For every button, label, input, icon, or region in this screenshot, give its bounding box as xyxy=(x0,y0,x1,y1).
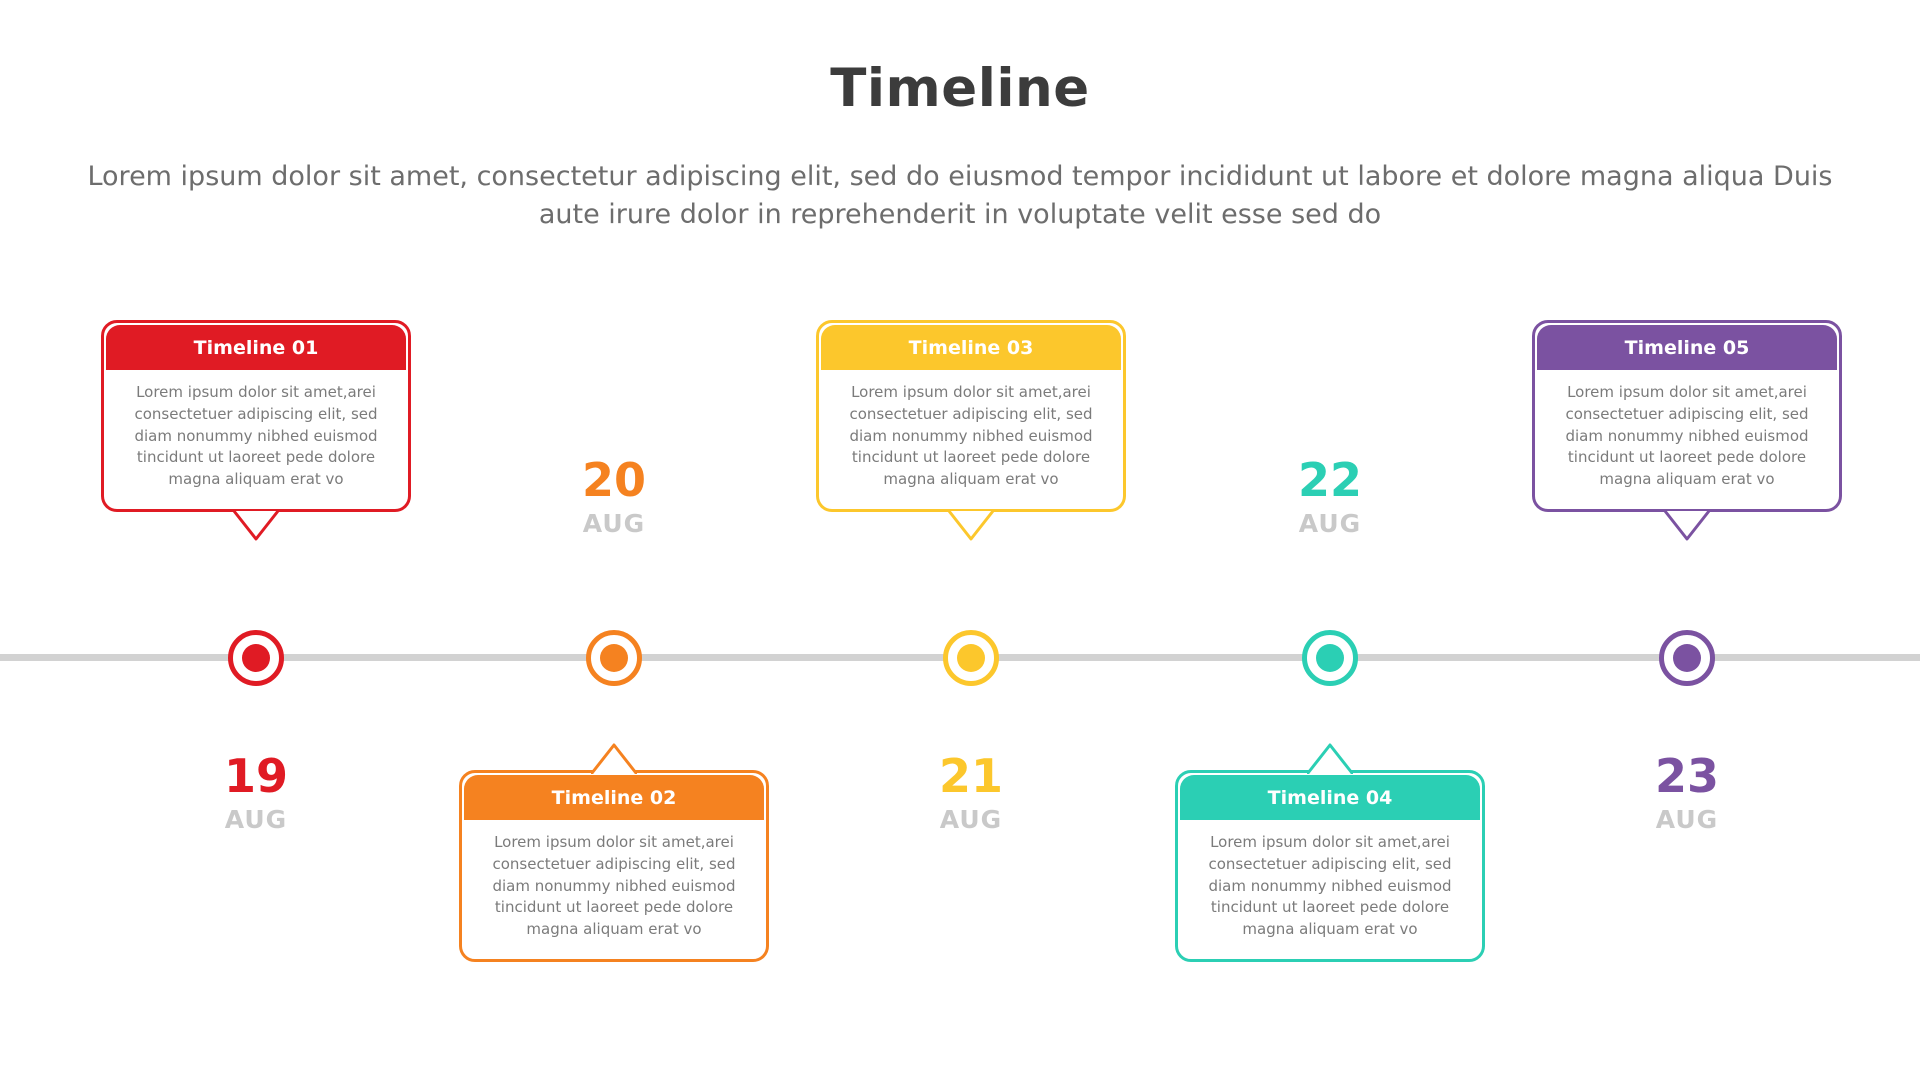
timeline-date-day: 20 xyxy=(504,457,724,503)
page-subtitle: Lorem ipsum dolor sit amet, consectetur … xyxy=(80,158,1840,235)
timeline-date-month: AUG xyxy=(1220,509,1440,538)
timeline-date-5: 23AUG xyxy=(1577,753,1797,834)
timeline-card-1[interactable]: Timeline 01Lorem ipsum dolor sit amet,ar… xyxy=(101,320,411,512)
timeline-date-2: 20AUG xyxy=(504,457,724,538)
timeline-date-month: AUG xyxy=(861,805,1081,834)
timeline-card-3[interactable]: Timeline 03Lorem ipsum dolor sit amet,ar… xyxy=(816,320,1126,512)
timeline-date-3: 21AUG xyxy=(861,753,1081,834)
timeline-node-dot-4[interactable] xyxy=(1302,630,1358,686)
timeline-card-body: Lorem ipsum dolor sit amet,arei consecte… xyxy=(106,370,406,507)
timeline-card-inner: Timeline 04Lorem ipsum dolor sit amet,ar… xyxy=(1180,775,1480,957)
timeline-card-title: Timeline 03 xyxy=(821,325,1121,370)
timeline-infographic: Timeline Lorem ipsum dolor sit amet, con… xyxy=(0,0,1920,1080)
timeline-card-inner: Timeline 01Lorem ipsum dolor sit amet,ar… xyxy=(106,325,406,507)
timeline-card-title: Timeline 01 xyxy=(106,325,406,370)
timeline-card-2[interactable]: Timeline 02Lorem ipsum dolor sit amet,ar… xyxy=(459,770,769,962)
timeline-card-tail xyxy=(591,742,637,772)
timeline-node-dot-inner xyxy=(1316,644,1344,672)
timeline-date-month: AUG xyxy=(146,805,366,834)
timeline-card-inner: Timeline 03Lorem ipsum dolor sit amet,ar… xyxy=(821,325,1121,507)
timeline-card-tail xyxy=(948,510,994,540)
timeline-date-4: 22AUG xyxy=(1220,457,1440,538)
timeline-node-dot-inner xyxy=(600,644,628,672)
timeline-card-body: Lorem ipsum dolor sit amet,arei consecte… xyxy=(464,820,764,957)
timeline-card-inner: Timeline 05Lorem ipsum dolor sit amet,ar… xyxy=(1537,325,1837,507)
timeline-date-day: 19 xyxy=(146,753,366,799)
timeline-card-4[interactable]: Timeline 04Lorem ipsum dolor sit amet,ar… xyxy=(1175,770,1485,962)
timeline-card-title: Timeline 04 xyxy=(1180,775,1480,820)
timeline-card-body: Lorem ipsum dolor sit amet,arei consecte… xyxy=(821,370,1121,507)
timeline-date-day: 23 xyxy=(1577,753,1797,799)
timeline-card-tail xyxy=(1664,510,1710,540)
timeline-node-dot-inner xyxy=(1673,644,1701,672)
timeline-date-1: 19AUG xyxy=(146,753,366,834)
timeline-date-month: AUG xyxy=(1577,805,1797,834)
timeline-card-body: Lorem ipsum dolor sit amet,arei consecte… xyxy=(1180,820,1480,957)
timeline-node-dot-5[interactable] xyxy=(1659,630,1715,686)
page-title: Timeline xyxy=(0,58,1920,119)
timeline-card-5[interactable]: Timeline 05Lorem ipsum dolor sit amet,ar… xyxy=(1532,320,1842,512)
timeline-card-tail xyxy=(233,510,279,540)
timeline-card-title: Timeline 05 xyxy=(1537,325,1837,370)
timeline-node-dot-inner xyxy=(957,644,985,672)
timeline-card-title: Timeline 02 xyxy=(464,775,764,820)
timeline-card-tail xyxy=(1307,742,1353,772)
timeline-card-inner: Timeline 02Lorem ipsum dolor sit amet,ar… xyxy=(464,775,764,957)
timeline-node-dot-3[interactable] xyxy=(943,630,999,686)
timeline-date-day: 21 xyxy=(861,753,1081,799)
timeline-node-dot-2[interactable] xyxy=(586,630,642,686)
timeline-date-month: AUG xyxy=(504,509,724,538)
timeline-node-dot-1[interactable] xyxy=(228,630,284,686)
timeline-card-body: Lorem ipsum dolor sit amet,arei consecte… xyxy=(1537,370,1837,507)
timeline-node-dot-inner xyxy=(242,644,270,672)
timeline-date-day: 22 xyxy=(1220,457,1440,503)
